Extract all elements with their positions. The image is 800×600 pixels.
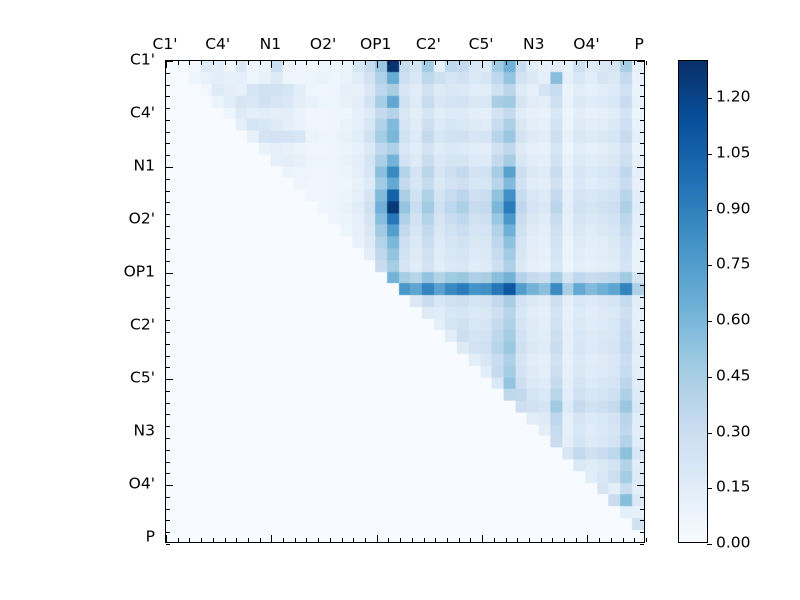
x-tick — [388, 538, 389, 542]
x-tick — [470, 61, 471, 65]
colorbar-tick — [707, 544, 712, 545]
x-tick — [506, 538, 507, 542]
y-tick-label-8: O4' — [103, 476, 155, 492]
x-tick — [166, 61, 167, 68]
x-tick — [447, 61, 448, 65]
x-tick — [576, 61, 577, 65]
y-tick — [166, 120, 170, 121]
y-tick — [640, 249, 644, 250]
y-tick — [166, 261, 170, 262]
x-tick — [283, 538, 284, 542]
x-tick — [201, 538, 202, 542]
y-tick — [166, 214, 170, 215]
x-tick — [178, 538, 179, 542]
x-tick — [541, 61, 542, 65]
y-tick — [166, 202, 170, 203]
y-tick — [640, 108, 644, 109]
y-tick — [166, 297, 170, 298]
y-tick — [640, 261, 644, 262]
y-tick — [166, 96, 170, 97]
y-tick — [637, 273, 644, 274]
y-tick — [166, 143, 170, 144]
x-tick — [189, 538, 190, 542]
x-tick — [213, 538, 214, 542]
y-tick — [640, 532, 644, 533]
x-tick-label-9: P — [634, 37, 643, 53]
y-tick — [640, 391, 644, 392]
y-tick — [640, 285, 644, 286]
x-tick — [318, 61, 319, 65]
colorbar-tick-label-4: 0.60 — [716, 312, 751, 328]
y-tick — [166, 61, 173, 62]
x-tick — [271, 61, 272, 68]
x-tick — [517, 538, 518, 542]
x-tick-label-0: C1' — [153, 37, 178, 53]
y-tick — [166, 520, 170, 521]
y-tick — [166, 450, 170, 451]
x-tick — [248, 538, 249, 542]
y-tick — [640, 473, 644, 474]
x-tick-label-7: N3 — [523, 37, 544, 53]
y-tick — [640, 132, 644, 133]
x-tick — [306, 61, 307, 65]
x-tick — [599, 61, 600, 65]
x-tick — [201, 61, 202, 65]
colorbar-tick — [707, 98, 712, 99]
x-tick — [412, 538, 413, 542]
x-tick — [400, 538, 401, 542]
x-tick — [634, 61, 635, 65]
y-tick-label-1: C4' — [103, 105, 155, 121]
y-tick — [640, 238, 644, 239]
y-tick — [640, 96, 644, 97]
y-tick — [637, 167, 644, 168]
colorbar-tick — [707, 377, 712, 378]
y-tick — [166, 273, 173, 274]
x-tick — [306, 538, 307, 542]
x-tick — [611, 538, 612, 542]
x-tick — [517, 61, 518, 65]
x-tick — [388, 61, 389, 65]
x-tick — [646, 61, 647, 65]
x-tick — [494, 61, 495, 65]
y-tick — [166, 532, 170, 533]
y-tick — [640, 544, 644, 545]
y-tick — [166, 285, 170, 286]
y-tick — [640, 426, 644, 427]
y-tick — [640, 438, 644, 439]
figure-canvas: C1'C4'N1O2'OP1C2'C5'N3O4'P C1'C4'N1O2'OP… — [0, 0, 800, 600]
y-tick — [640, 462, 644, 463]
x-tick-label-1: C4' — [205, 37, 230, 53]
y-tick — [640, 509, 644, 510]
x-tick-label-4: OP1 — [360, 37, 391, 53]
y-tick — [640, 120, 644, 121]
x-tick — [529, 538, 530, 542]
x-tick — [564, 61, 565, 65]
y-tick — [166, 438, 170, 439]
y-tick — [166, 509, 170, 510]
y-tick — [640, 191, 644, 192]
x-tick-label-5: C2' — [416, 37, 441, 53]
x-tick — [271, 535, 272, 542]
y-tick — [640, 143, 644, 144]
y-tick — [640, 85, 644, 86]
x-tick — [260, 538, 261, 542]
x-tick — [541, 538, 542, 542]
x-tick — [353, 61, 354, 65]
x-tick-label-3: O2' — [310, 37, 336, 53]
y-tick-label-3: O2' — [103, 211, 155, 227]
y-tick — [640, 73, 644, 74]
x-tick — [189, 61, 190, 65]
colorbar[interactable] — [678, 60, 708, 543]
y-tick — [166, 367, 170, 368]
y-tick — [640, 179, 644, 180]
y-tick — [166, 320, 170, 321]
y-tick — [166, 308, 170, 309]
y-tick — [640, 297, 644, 298]
x-tick — [342, 538, 343, 542]
x-tick — [482, 535, 483, 542]
x-tick — [529, 61, 530, 65]
y-tick — [640, 226, 644, 227]
x-tick — [178, 61, 179, 65]
x-tick — [330, 538, 331, 542]
colorbar-tick-label-7: 1.05 — [716, 145, 751, 161]
heatmap-axes[interactable] — [165, 60, 645, 543]
y-tick — [637, 485, 644, 486]
y-tick — [640, 308, 644, 309]
y-tick — [637, 379, 644, 380]
y-tick — [166, 485, 173, 486]
x-tick — [564, 538, 565, 542]
x-tick — [494, 538, 495, 542]
y-tick — [640, 367, 644, 368]
y-tick — [166, 426, 170, 427]
y-tick-label-0: C1' — [103, 52, 155, 68]
colorbar-tick — [707, 210, 712, 211]
x-tick — [166, 535, 167, 542]
y-tick — [166, 332, 170, 333]
y-tick — [637, 61, 644, 62]
y-tick-label-9: P — [103, 529, 155, 545]
y-tick-label-4: OP1 — [103, 264, 155, 280]
y-tick — [166, 226, 170, 227]
y-tick — [166, 155, 170, 156]
x-tick — [342, 61, 343, 65]
y-tick — [166, 544, 170, 545]
x-tick — [623, 538, 624, 542]
y-tick — [640, 450, 644, 451]
y-tick — [166, 73, 170, 74]
x-tick — [412, 61, 413, 65]
y-tick — [640, 344, 644, 345]
y-tick — [166, 403, 170, 404]
y-tick — [166, 462, 170, 463]
colorbar-tick-label-6: 0.90 — [716, 201, 751, 217]
y-tick — [640, 497, 644, 498]
y-tick-label-2: N1 — [103, 158, 155, 174]
colorbar-tick-label-3: 0.45 — [716, 368, 751, 384]
x-tick-label-8: O4' — [573, 37, 599, 53]
x-tick — [552, 61, 553, 65]
x-tick-label-6: C5' — [469, 37, 494, 53]
x-tick — [377, 535, 378, 542]
y-tick — [166, 132, 170, 133]
colorbar-tick-label-8: 1.20 — [716, 89, 751, 105]
x-tick — [318, 538, 319, 542]
y-tick-label-7: N3 — [103, 423, 155, 439]
x-tick — [225, 61, 226, 65]
x-tick — [424, 538, 425, 542]
y-tick — [166, 344, 170, 345]
x-tick — [295, 538, 296, 542]
x-tick — [623, 61, 624, 65]
x-tick — [400, 61, 401, 65]
x-tick — [377, 61, 378, 68]
y-tick — [640, 332, 644, 333]
y-tick — [640, 320, 644, 321]
x-tick — [506, 61, 507, 65]
y-tick — [166, 167, 173, 168]
y-tick — [166, 497, 170, 498]
y-tick — [640, 414, 644, 415]
x-tick — [611, 61, 612, 65]
y-tick-label-5: C2' — [103, 317, 155, 333]
colorbar-gradient — [679, 61, 707, 542]
x-tick — [248, 61, 249, 65]
x-tick — [459, 61, 460, 65]
x-tick — [330, 61, 331, 65]
y-tick — [640, 356, 644, 357]
x-tick — [260, 61, 261, 65]
heatmap-image[interactable] — [166, 61, 644, 542]
x-tick — [236, 538, 237, 542]
y-tick — [166, 414, 170, 415]
x-tick — [599, 538, 600, 542]
x-tick — [587, 61, 588, 68]
x-tick — [365, 538, 366, 542]
x-tick — [587, 535, 588, 542]
y-tick — [166, 179, 170, 180]
x-tick — [576, 538, 577, 542]
colorbar-tick — [707, 265, 712, 266]
y-tick — [166, 238, 170, 239]
x-tick — [646, 538, 647, 542]
colorbar-tick-label-5: 0.75 — [716, 257, 751, 273]
x-tick — [365, 61, 366, 65]
colorbar-tick — [707, 488, 712, 489]
x-tick — [353, 538, 354, 542]
y-tick — [640, 155, 644, 156]
y-tick — [640, 403, 644, 404]
x-tick — [213, 61, 214, 65]
x-tick — [634, 538, 635, 542]
y-tick — [166, 356, 170, 357]
y-tick — [166, 191, 170, 192]
x-tick — [470, 538, 471, 542]
colorbar-tick-label-2: 0.30 — [716, 424, 751, 440]
x-tick-label-2: N1 — [260, 37, 281, 53]
y-tick — [640, 214, 644, 215]
colorbar-tick-label-1: 0.15 — [716, 480, 751, 496]
x-tick — [295, 61, 296, 65]
colorbar-tick-label-0: 0.00 — [716, 535, 751, 551]
x-tick — [552, 538, 553, 542]
y-tick — [166, 108, 170, 109]
x-tick — [435, 61, 436, 65]
y-tick — [166, 249, 170, 250]
x-tick — [435, 538, 436, 542]
y-tick — [166, 391, 170, 392]
y-tick — [166, 85, 170, 86]
y-tick — [166, 379, 173, 380]
colorbar-tick — [707, 433, 712, 434]
y-tick — [640, 202, 644, 203]
colorbar-tick — [707, 321, 712, 322]
y-tick-label-6: C5' — [103, 370, 155, 386]
x-tick — [459, 538, 460, 542]
y-tick — [166, 473, 170, 474]
x-tick — [225, 538, 226, 542]
colorbar-tick — [707, 154, 712, 155]
y-tick — [640, 520, 644, 521]
x-tick — [283, 61, 284, 65]
x-tick — [447, 538, 448, 542]
x-tick — [424, 61, 425, 65]
x-tick — [236, 61, 237, 65]
x-tick — [482, 61, 483, 68]
